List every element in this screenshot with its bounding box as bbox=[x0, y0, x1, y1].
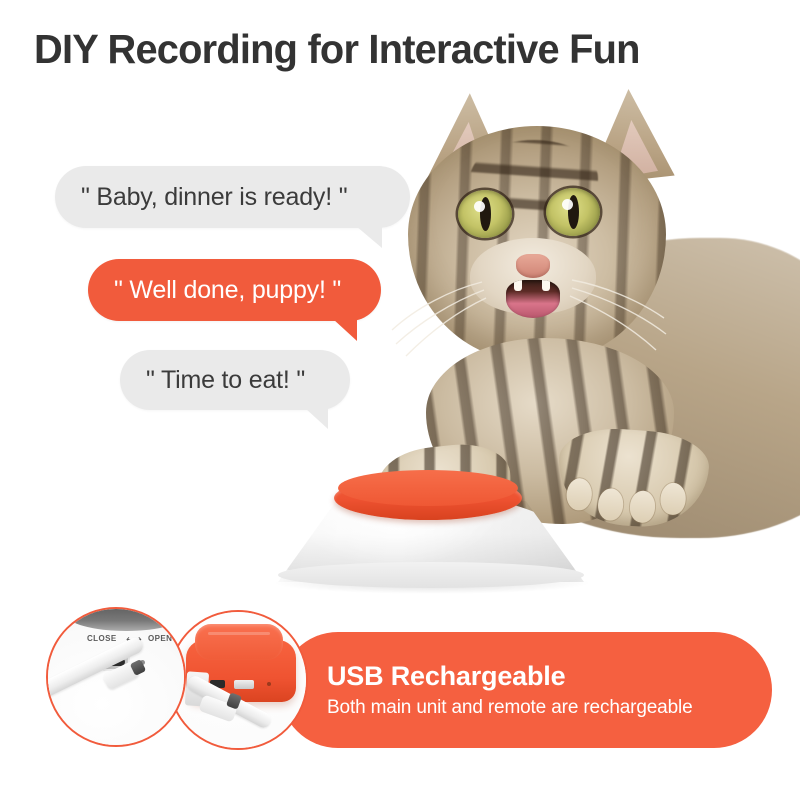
cat-eye-glint-left bbox=[474, 201, 485, 212]
close-label: CLOSE bbox=[87, 634, 117, 643]
cat-eye-right bbox=[546, 188, 600, 236]
device-base-rim bbox=[278, 562, 584, 588]
recordable-sound-button-device bbox=[278, 470, 584, 582]
open-label: OPEN bbox=[148, 634, 172, 643]
cat-tooth-right bbox=[542, 280, 550, 291]
speech-bubble-1-text: " Baby, dinner is ready! " bbox=[81, 182, 347, 212]
inset-photo-remote-charging bbox=[168, 610, 308, 750]
speech-bubble-2-tail bbox=[333, 319, 357, 341]
speech-bubble-1-tail bbox=[356, 226, 382, 248]
product-infographic: DIY Recording for Interactive Fun bbox=[0, 0, 800, 800]
speech-bubble-3-tail bbox=[305, 408, 328, 429]
cat-eye-left bbox=[458, 190, 512, 238]
page-title: DIY Recording for Interactive Fun bbox=[34, 24, 752, 74]
cat-nose bbox=[516, 254, 550, 278]
speech-bubble-3: " Time to eat! " bbox=[120, 350, 350, 410]
device-orange-button-top bbox=[338, 470, 518, 506]
usb-banner-subtitle: Both main unit and remote are rechargeab… bbox=[327, 695, 772, 721]
cat-eye-glint-right bbox=[562, 199, 573, 210]
speech-bubble-2-text: " Well done, puppy! " bbox=[114, 275, 341, 305]
usb-rechargeable-banner: USB Rechargeable Both main unit and remo… bbox=[280, 632, 772, 748]
remote-battery-slot bbox=[234, 680, 254, 689]
speech-bubble-3-text: " Time to eat! " bbox=[146, 365, 305, 395]
remote-cap bbox=[195, 624, 283, 660]
inset-photo-main-unit-charging: CLOSE ⟷ OPEN bbox=[46, 607, 186, 747]
speech-bubble-1: " Baby, dinner is ready! " bbox=[55, 166, 410, 228]
cat-open-mouth bbox=[506, 280, 560, 318]
remote-screw-dot bbox=[267, 682, 271, 686]
speech-bubble-2: " Well done, puppy! " bbox=[88, 259, 381, 321]
remote-cap-groove bbox=[208, 632, 270, 635]
cat-tooth-left bbox=[514, 280, 522, 291]
usb-banner-title: USB Rechargeable bbox=[327, 659, 772, 693]
